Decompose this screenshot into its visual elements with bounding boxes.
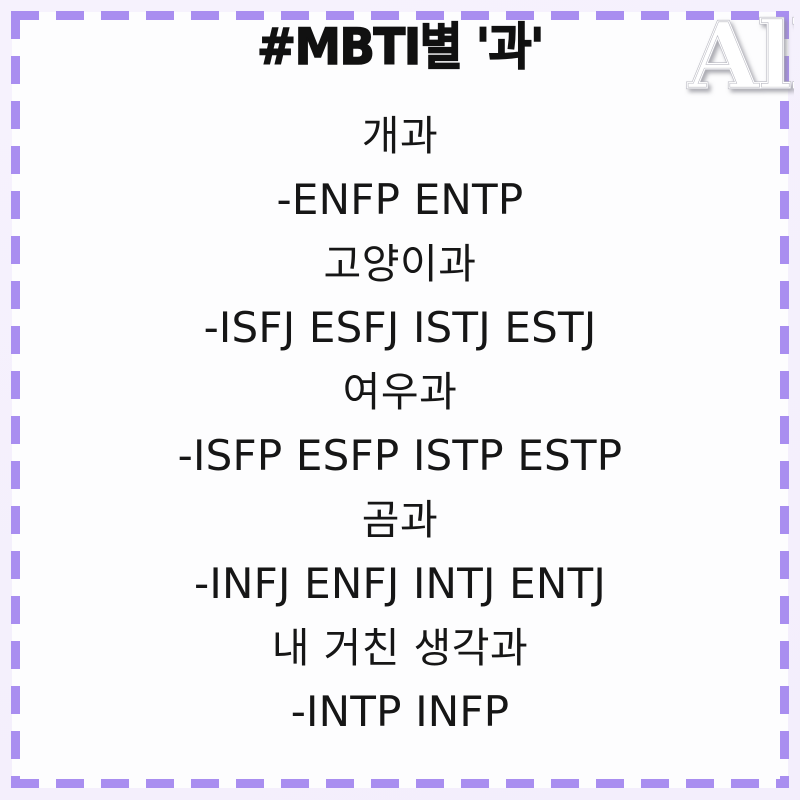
content-line-types-fox: -ISFP ESFP ISTP ESTP [0,424,800,488]
mbti-card: #MBTI별 '과' 개과-ENFP ENTP고양이과-ISFJ ESFJ IS… [0,0,800,800]
content-line-group-cat: 고양이과 [0,232,800,296]
content-line-list: 개과-ENFP ENTP고양이과-ISFJ ESFJ ISTJ ESTJ여우과-… [0,104,800,744]
content-line-types-dog: -ENFP ENTP [0,168,800,232]
content-line-types-bear: -INFJ ENFJ INTJ ENTJ [0,552,800,616]
content-line-group-fox: 여우과 [0,360,800,424]
content-line-group-dog: 개과 [0,104,800,168]
content-line-group-bear: 곰과 [0,488,800,552]
content-line-types-rough: -INTP INFP [0,680,800,744]
page-title: #MBTI별 '과' [28,22,772,72]
content-line-types-cat: -ISFJ ESFJ ISTJ ESTJ [0,296,800,360]
content-line-group-rough: 내 거친 생각과 [0,616,800,680]
